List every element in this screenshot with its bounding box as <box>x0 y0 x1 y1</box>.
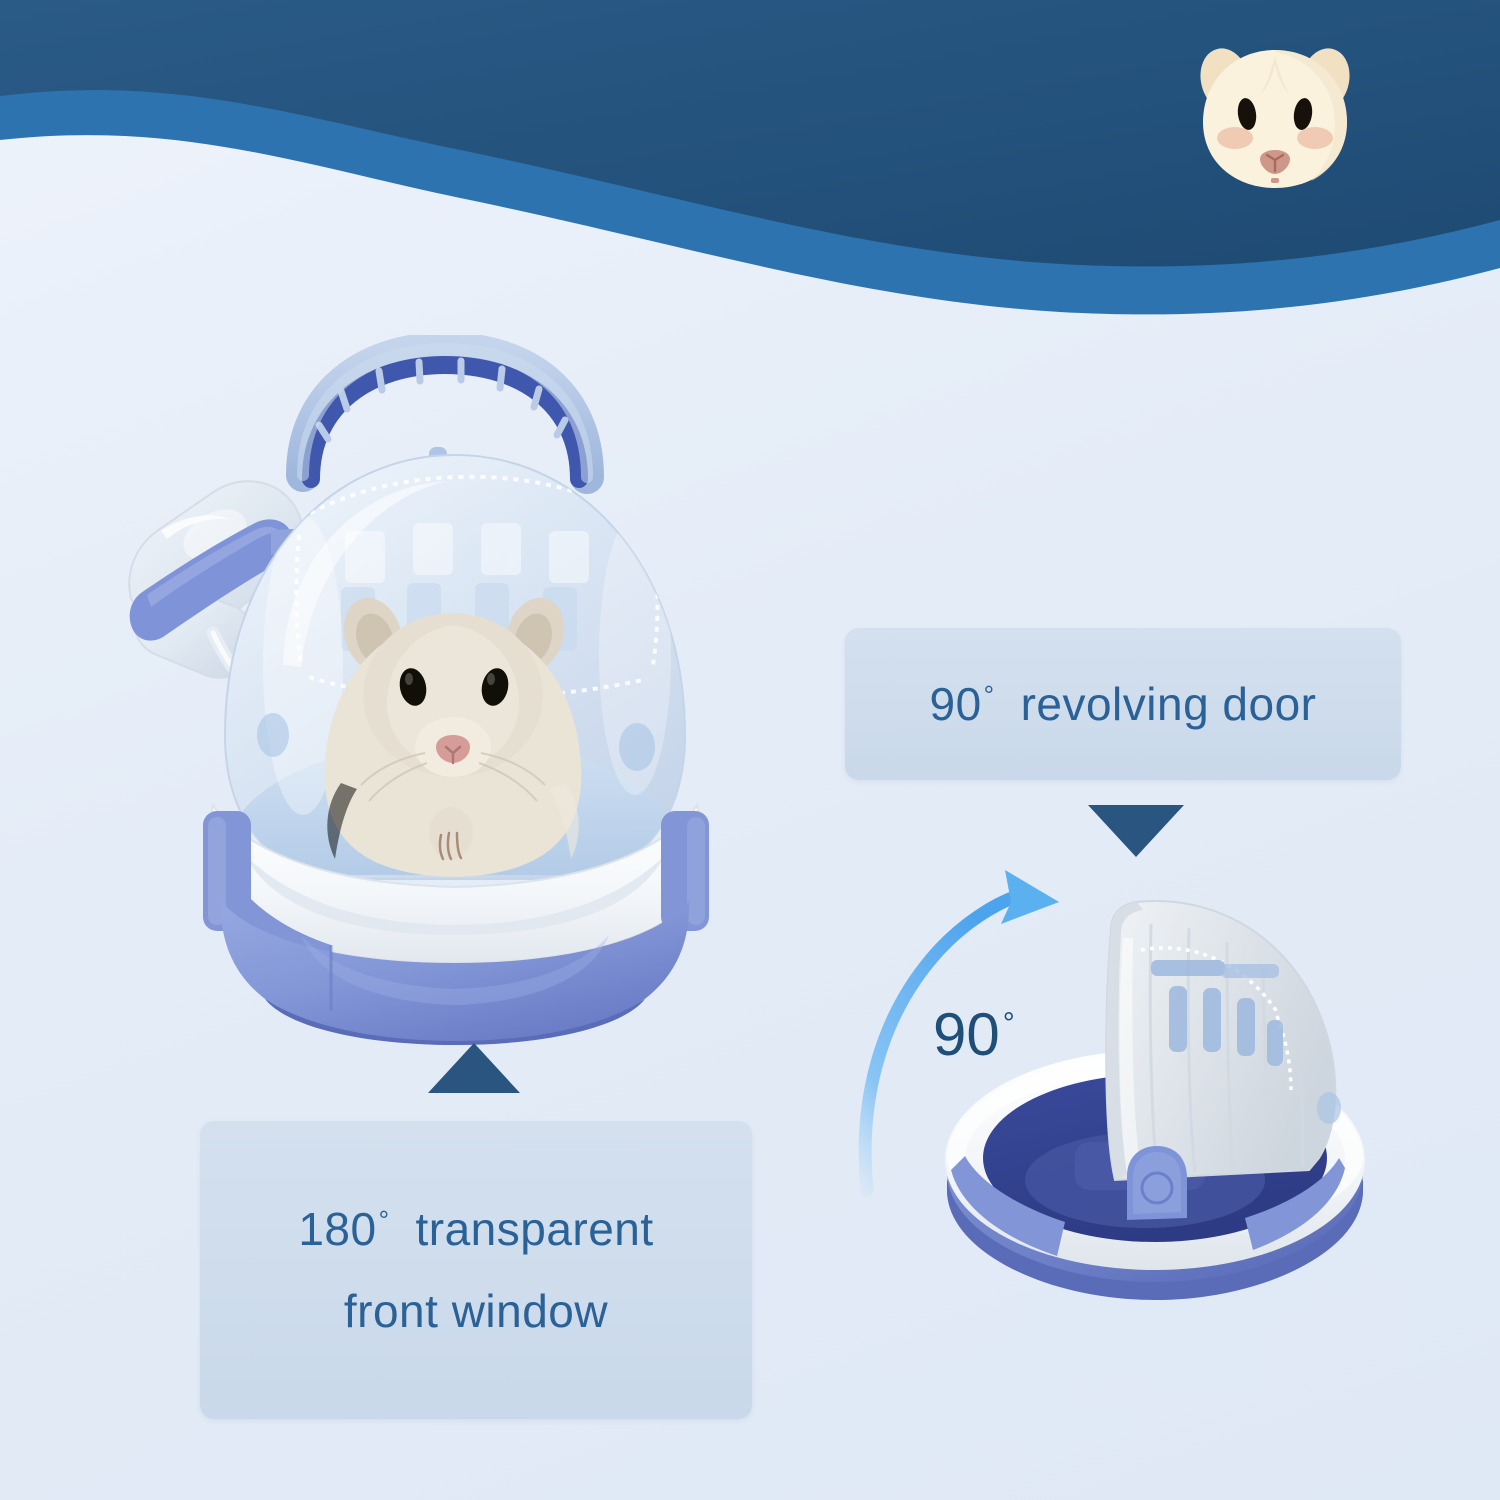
triangle-up-icon <box>428 1043 520 1093</box>
front-window-label-line2: front window <box>344 1284 608 1338</box>
callout-revolving-door-line: 90 ° revolving door <box>929 677 1316 731</box>
hamster-face-logo <box>1185 38 1365 198</box>
callout-front-window-line2: front window <box>344 1284 608 1338</box>
callout-revolving-door: 90 ° revolving door <box>845 628 1401 780</box>
product-image-main-carrier <box>95 335 815 1045</box>
revolving-door-degrees: 90 <box>929 677 981 731</box>
product-image-open-carrier <box>905 890 1405 1340</box>
callout-front-window-line1: 180 ° transparent <box>298 1202 653 1256</box>
infographic-stage: 90 ° revolving door 180 ° transparent fr… <box>0 0 1500 1500</box>
callout-front-window: 180 ° transparent front window <box>200 1121 752 1419</box>
front-window-degrees: 180 <box>298 1202 376 1256</box>
hinged-dome-lid <box>1106 901 1341 1180</box>
front-window-label-line1: transparent <box>415 1202 653 1256</box>
front-window-degree-symbol: ° <box>379 1205 390 1236</box>
triangle-down-icon <box>1088 805 1184 857</box>
revolving-door-degree-symbol: ° <box>984 680 995 711</box>
revolving-door-label: revolving door <box>1021 677 1317 731</box>
blue-hinge-knob <box>1127 1146 1187 1220</box>
gerbil-animal <box>325 590 582 877</box>
